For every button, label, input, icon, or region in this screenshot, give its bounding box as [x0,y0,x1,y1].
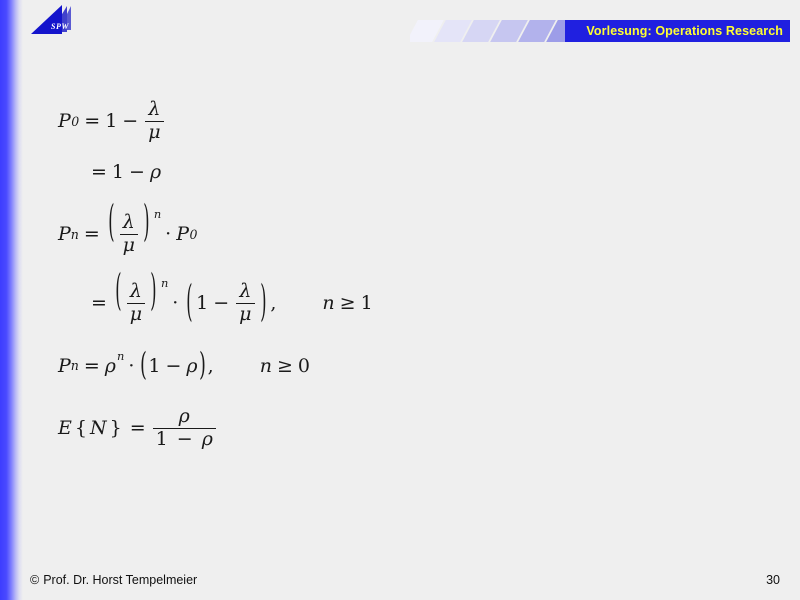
equation-block-pn: Pn = ( λ μ ) n · P0 = [58,213,758,325]
page-title: Vorlesung: Operations Research [586,24,783,38]
spw-logo: SPW [31,4,87,37]
footer-copyright: © Prof. Dr. Horst Tempelmeier [30,573,197,587]
slide-canvas: SPW Vorlesung: Operations Research P0 = … [0,0,800,600]
equation-line-pn-2: = ( λ μ ) n · ( 1 − λ [86,282,758,325]
fraction-lambda-over-mu: λ μ [120,213,138,256]
power-lambda-mu-n: ( λ μ ) n [105,213,160,256]
operator-comma: , [270,292,276,314]
exponent-n: n [154,207,161,221]
symbol-rho: ρ [176,407,193,428]
operator-equals: = [86,292,112,314]
number-one: 1 [196,292,208,314]
symbol-mu: μ [127,304,145,325]
equation-line-pn-1: Pn = ( λ μ ) n · P0 [58,213,758,256]
right-paren: ) [260,279,266,328]
symbol-rho: ρ [186,355,197,377]
operator-minus: − [124,161,150,183]
number-one: 1 [112,161,124,183]
operator-equals: = [86,161,112,183]
number-zero: 0 [298,355,310,377]
header-banner: Vorlesung: Operations Research [410,20,790,42]
operator-geq: ≥ [335,292,361,314]
left-paren: ( [108,198,114,247]
symbol-N: N [90,417,107,439]
operator-comma: , [208,355,214,377]
left-paren: ( [115,267,121,316]
spw-logo-label: SPW [51,22,69,31]
subscript-n: n [71,358,79,373]
equation-line-p0-1: P0 = 1 − λ μ [58,100,758,143]
block-spacer [58,325,758,355]
number-one: 1 [148,355,160,377]
left-paren: ( [141,347,148,384]
fraction-lambda-over-mu: λ μ [127,282,145,325]
copyright-icon: © [30,574,39,587]
symbol-n: n [322,292,334,314]
symbol-n: n [260,355,272,377]
power-rho-n: ρ n [105,355,124,377]
number-one: 1 [361,292,373,314]
footer-author: Prof. Dr. Horst Tempelmeier [43,573,197,587]
line-spacer [58,143,758,161]
condition-n-ge-1: n ≥ 1 [322,292,372,314]
right-paren: ) [199,347,206,384]
header-title-bar: Vorlesung: Operations Research [565,20,790,42]
operator-cdot: · [160,223,176,245]
number-one: 1 [156,428,168,450]
power-lambda-mu-n: ( λ μ ) n [112,282,167,325]
operator-minus: − [161,355,187,377]
symbol-rho: ρ [105,355,116,377]
operator-equals: = [79,355,105,377]
spw-logo-graphic [31,4,87,37]
symbol-rho: ρ [150,161,161,183]
subscript-0: 0 [190,227,198,242]
symbol-E: E [58,417,72,439]
left-accent-bar [0,0,23,600]
exponent-n: n [161,276,168,290]
equation-block-en: E { N } = ρ 1 − ρ [58,407,758,450]
fraction-lambda-over-mu: λ μ [145,100,163,143]
symbol-P: P [58,223,71,245]
symbol-lambda: λ [120,213,138,234]
block-spacer [58,377,758,407]
operator-equals: = [79,110,105,132]
operator-cdot: · [123,355,139,377]
left-brace: { [72,417,90,439]
exponent-n: n [117,349,124,363]
fraction-rho-over-one-minus-rho: ρ 1 − ρ [153,407,216,450]
right-paren: ) [143,198,149,247]
operator-minus: − [117,110,143,132]
symbol-lambda: λ [127,282,145,303]
right-brace: } [107,417,125,439]
operator-cdot: · [167,292,183,314]
fraction-lambda-over-mu: λ μ [236,282,254,325]
condition-n-ge-0: n ≥ 0 [260,355,310,377]
subscript-n: n [71,227,79,242]
equation-block-pn-rho: Pn = ρ n · ( 1 − ρ ) , n ≥ 0 [58,355,758,377]
page-number: 30 [766,573,780,587]
symbol-mu: μ [120,235,138,256]
symbol-lambda: λ [145,100,163,121]
symbol-mu: μ [236,304,254,325]
left-paren: ( [187,279,193,328]
slide-content: P0 = 1 − λ μ = 1 − ρ Pn [58,100,758,450]
symbol-mu: μ [145,122,163,143]
equation-block-p0: P0 = 1 − λ μ = 1 − ρ [58,100,758,183]
symbol-rho: ρ [202,428,213,450]
operator-minus: − [208,292,234,314]
operator-minus: − [174,428,196,450]
symbol-lambda: λ [236,282,254,303]
equation-line-pn-rho-1: Pn = ρ n · ( 1 − ρ ) , n ≥ 0 [58,355,758,377]
equation-line-p0-2: = 1 − ρ [86,161,758,183]
symbol-P: P [58,110,71,132]
subscript-0: 0 [71,114,79,129]
operator-geq: ≥ [272,355,298,377]
number-one: 1 [105,110,117,132]
right-paren: ) [150,267,156,316]
operator-equals: = [125,417,151,439]
operator-equals: = [79,223,105,245]
symbol-P: P [58,355,71,377]
symbol-P: P [176,223,189,245]
block-spacer [58,183,758,213]
equation-line-en-1: E { N } = ρ 1 − ρ [58,407,758,450]
denominator-one-minus-rho: 1 − ρ [153,429,216,450]
